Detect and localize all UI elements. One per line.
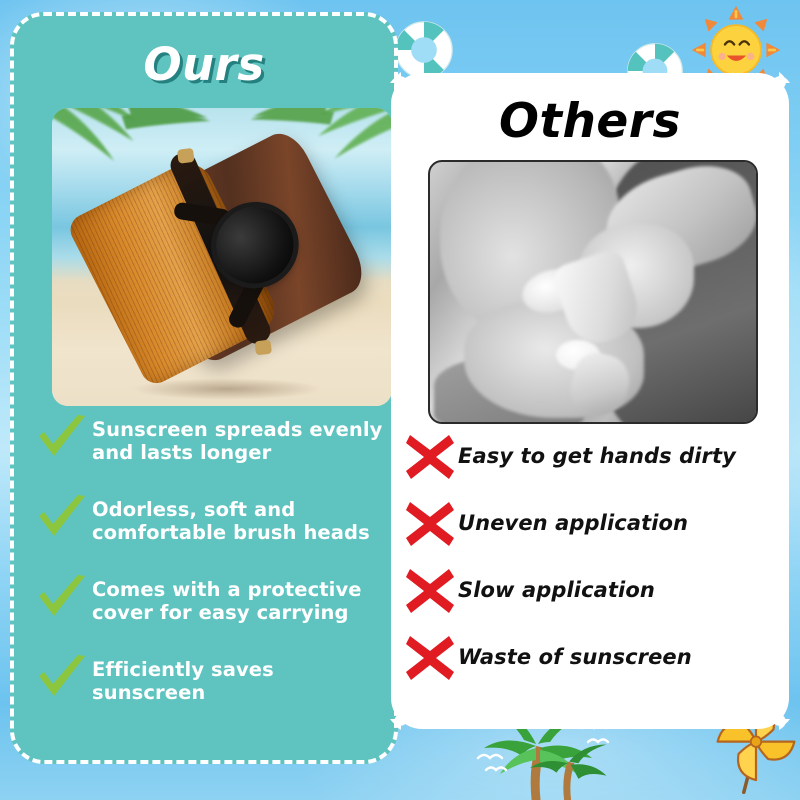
comparison-infographic: Ours [0, 0, 800, 800]
check-icon [36, 574, 88, 620]
list-item-label: Sunscreen spreads evenly and lasts longe… [92, 412, 386, 464]
list-item: Sunscreen spreads evenly and lasts longe… [36, 412, 386, 470]
product-shadow [132, 378, 322, 400]
life-ring-icon [392, 18, 456, 82]
list-item-label: Slow application [458, 579, 655, 602]
ours-panel: Ours [10, 12, 398, 764]
list-item: Waste of sunscreen [404, 627, 780, 689]
list-item-label: Easy to get hands dirty [458, 445, 736, 468]
list-item-label: Efficiently saves sunscreen [92, 652, 386, 704]
check-icon [36, 654, 88, 700]
list-item-label: Uneven application [458, 512, 688, 535]
list-item: Easy to get hands dirty [404, 426, 780, 488]
others-product-photo [428, 160, 758, 424]
list-item: Slow application [404, 560, 780, 622]
list-item: Efficiently saves sunscreen [36, 652, 386, 710]
brush-tip [177, 148, 195, 164]
list-item-label: Comes with a protective cover for easy c… [92, 572, 386, 624]
ours-title: Ours [14, 38, 394, 91]
ours-benefit-list: Sunscreen spreads evenly and lasts longe… [36, 412, 386, 732]
others-panel: Others Easy to get hands dirty [396, 78, 784, 724]
others-drawback-list: Easy to get hands dirty Uneven applicati… [404, 426, 780, 694]
brush-tip [254, 340, 272, 356]
scalloped-edge [779, 72, 793, 730]
others-title: Others [396, 94, 784, 149]
cross-icon [404, 634, 456, 682]
check-icon [36, 494, 88, 540]
cross-icon [404, 567, 456, 615]
cross-icon [404, 433, 456, 481]
list-item-label: Waste of sunscreen [458, 646, 692, 669]
list-item: Odorless, soft and comfortable brush hea… [36, 492, 386, 550]
cross-icon [404, 500, 456, 548]
ours-product-photo [52, 108, 392, 406]
list-item: Comes with a protective cover for easy c… [36, 572, 386, 630]
list-item-label: Odorless, soft and comfortable brush hea… [92, 492, 386, 544]
list-item: Uneven application [404, 493, 780, 555]
check-icon [36, 414, 88, 460]
